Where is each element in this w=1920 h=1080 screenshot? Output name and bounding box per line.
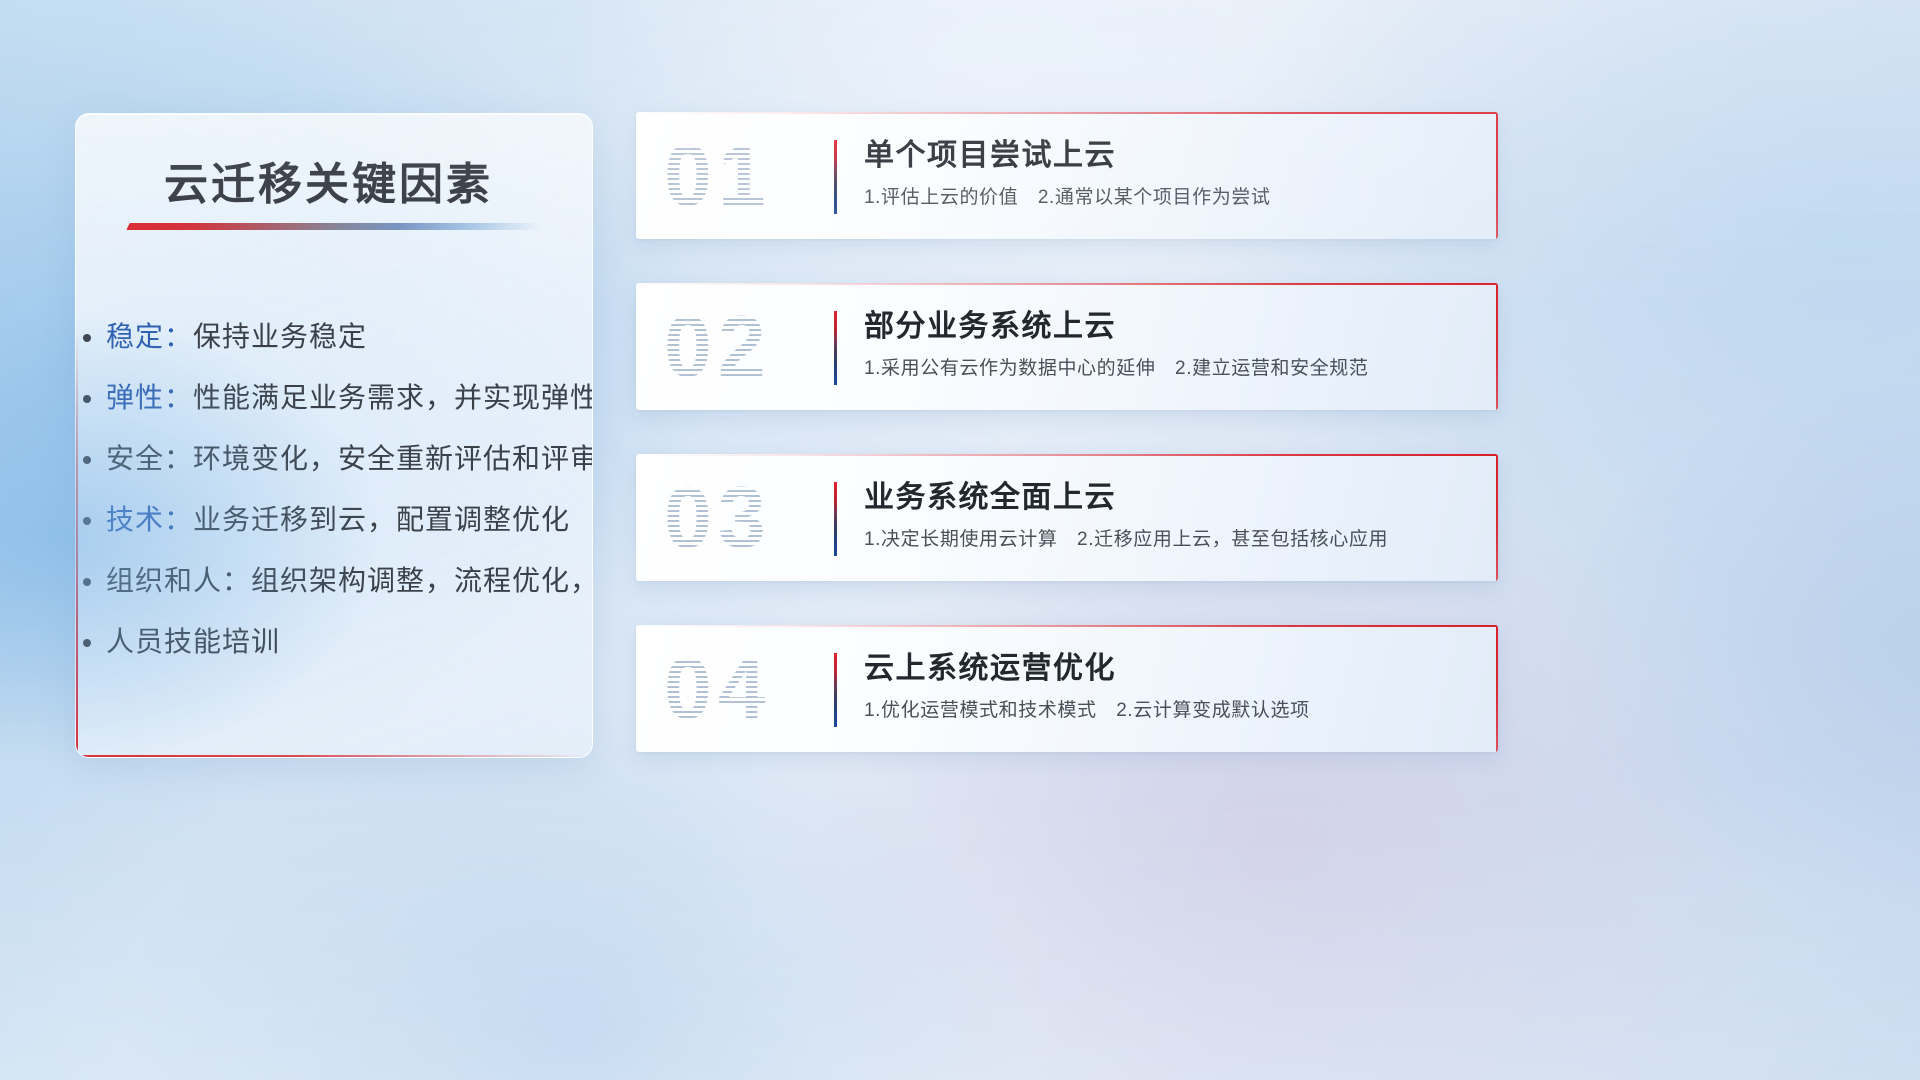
stage-card-body: 云上系统运营优化 1.优化运营模式和技术模式 2.云计算变成默认选项 — [864, 649, 1472, 724]
key-factors-panel: 云迁移关键因素 稳定：保持业务稳定 弹性：性能满足业务需求，并实现弹性 安全：环… — [75, 113, 593, 758]
stage-number-watermark: 04 — [664, 646, 772, 732]
list-item: 技术：业务迁移到云，配置调整优化 — [106, 489, 570, 550]
factor-list: 稳定：保持业务稳定 弹性：性能满足业务需求，并实现弹性 安全：环境变化，安全重新… — [106, 306, 570, 672]
list-item: 弹性：性能满足业务需求，并实现弹性 — [106, 367, 570, 428]
factor-text: 组织架构调整，流程优化， — [251, 565, 593, 596]
stage-number-watermark: 03 — [664, 475, 772, 561]
stage-card-body: 单个项目尝试上云 1.评估上云的价值 2.通常以某个项目作为尝试 — [864, 136, 1472, 211]
stage-card-02[interactable]: 02 部分业务系统上云 1.采用公有云作为数据中心的延伸 2.建立运营和安全规范 — [636, 283, 1498, 410]
list-item: 稳定：保持业务稳定 — [106, 306, 570, 367]
factor-label: 组织和人： — [106, 565, 251, 596]
stage-number-watermark: 02 — [664, 304, 772, 390]
stage-accent-bar — [834, 140, 837, 214]
factor-text: 性能满足业务需求，并实现弹性 — [193, 382, 593, 413]
list-item-continuation: 人员技能培训 — [106, 611, 570, 672]
stage-card-description: 1.决定长期使用云计算 2.迁移应用上云，甚至包括核心应用 — [864, 527, 1472, 553]
factor-label: 安全： — [106, 443, 193, 474]
stage-card-description: 1.采用公有云作为数据中心的延伸 2.建立运营和安全规范 — [864, 356, 1472, 382]
stage-card-body: 业务系统全面上云 1.决定长期使用云计算 2.迁移应用上云，甚至包括核心应用 — [864, 478, 1472, 553]
stage-card-list: 01 单个项目尝试上云 1.评估上云的价值 2.通常以某个项目作为尝试 02 部… — [636, 112, 1498, 752]
stage-card-04[interactable]: 04 云上系统运营优化 1.优化运营模式和技术模式 2.云计算变成默认选项 — [636, 625, 1498, 752]
title-underline-rule — [126, 223, 541, 230]
stage-accent-bar — [834, 311, 837, 385]
factor-text: 业务迁移到云，配置调整优化 — [193, 504, 570, 535]
stage-card-title: 云上系统运营优化 — [864, 649, 1472, 689]
stage-card-body: 部分业务系统上云 1.采用公有云作为数据中心的延伸 2.建立运营和安全规范 — [864, 307, 1472, 382]
page-title: 云迁移关键因素 — [164, 148, 493, 212]
stage-card-title: 业务系统全面上云 — [864, 478, 1472, 518]
factor-label: 弹性： — [106, 382, 193, 413]
stage-accent-bar — [834, 482, 837, 556]
stage-accent-bar — [834, 653, 837, 727]
factor-text: 保持业务稳定 — [193, 321, 367, 352]
stage-card-01[interactable]: 01 单个项目尝试上云 1.评估上云的价值 2.通常以某个项目作为尝试 — [636, 112, 1498, 239]
factor-label: 技术： — [106, 504, 193, 535]
stage-card-title: 部分业务系统上云 — [864, 307, 1472, 347]
list-item: 组织和人：组织架构调整，流程优化， — [106, 550, 570, 611]
factor-text: 环境变化，安全重新评估和评审 — [193, 443, 593, 474]
stage-card-description: 1.评估上云的价值 2.通常以某个项目作为尝试 — [864, 185, 1472, 211]
slide-canvas: 云迁移关键因素 稳定：保持业务稳定 弹性：性能满足业务需求，并实现弹性 安全：环… — [0, 0, 1920, 1080]
stage-card-03[interactable]: 03 业务系统全面上云 1.决定长期使用云计算 2.迁移应用上云，甚至包括核心应… — [636, 454, 1498, 581]
factor-text: 人员技能培训 — [106, 626, 280, 657]
factor-label: 稳定： — [106, 321, 193, 352]
stage-card-title: 单个项目尝试上云 — [864, 136, 1472, 176]
stage-card-description: 1.优化运营模式和技术模式 2.云计算变成默认选项 — [864, 698, 1472, 724]
list-item: 安全：环境变化，安全重新评估和评审 — [106, 428, 570, 489]
stage-number-watermark: 01 — [664, 133, 772, 219]
